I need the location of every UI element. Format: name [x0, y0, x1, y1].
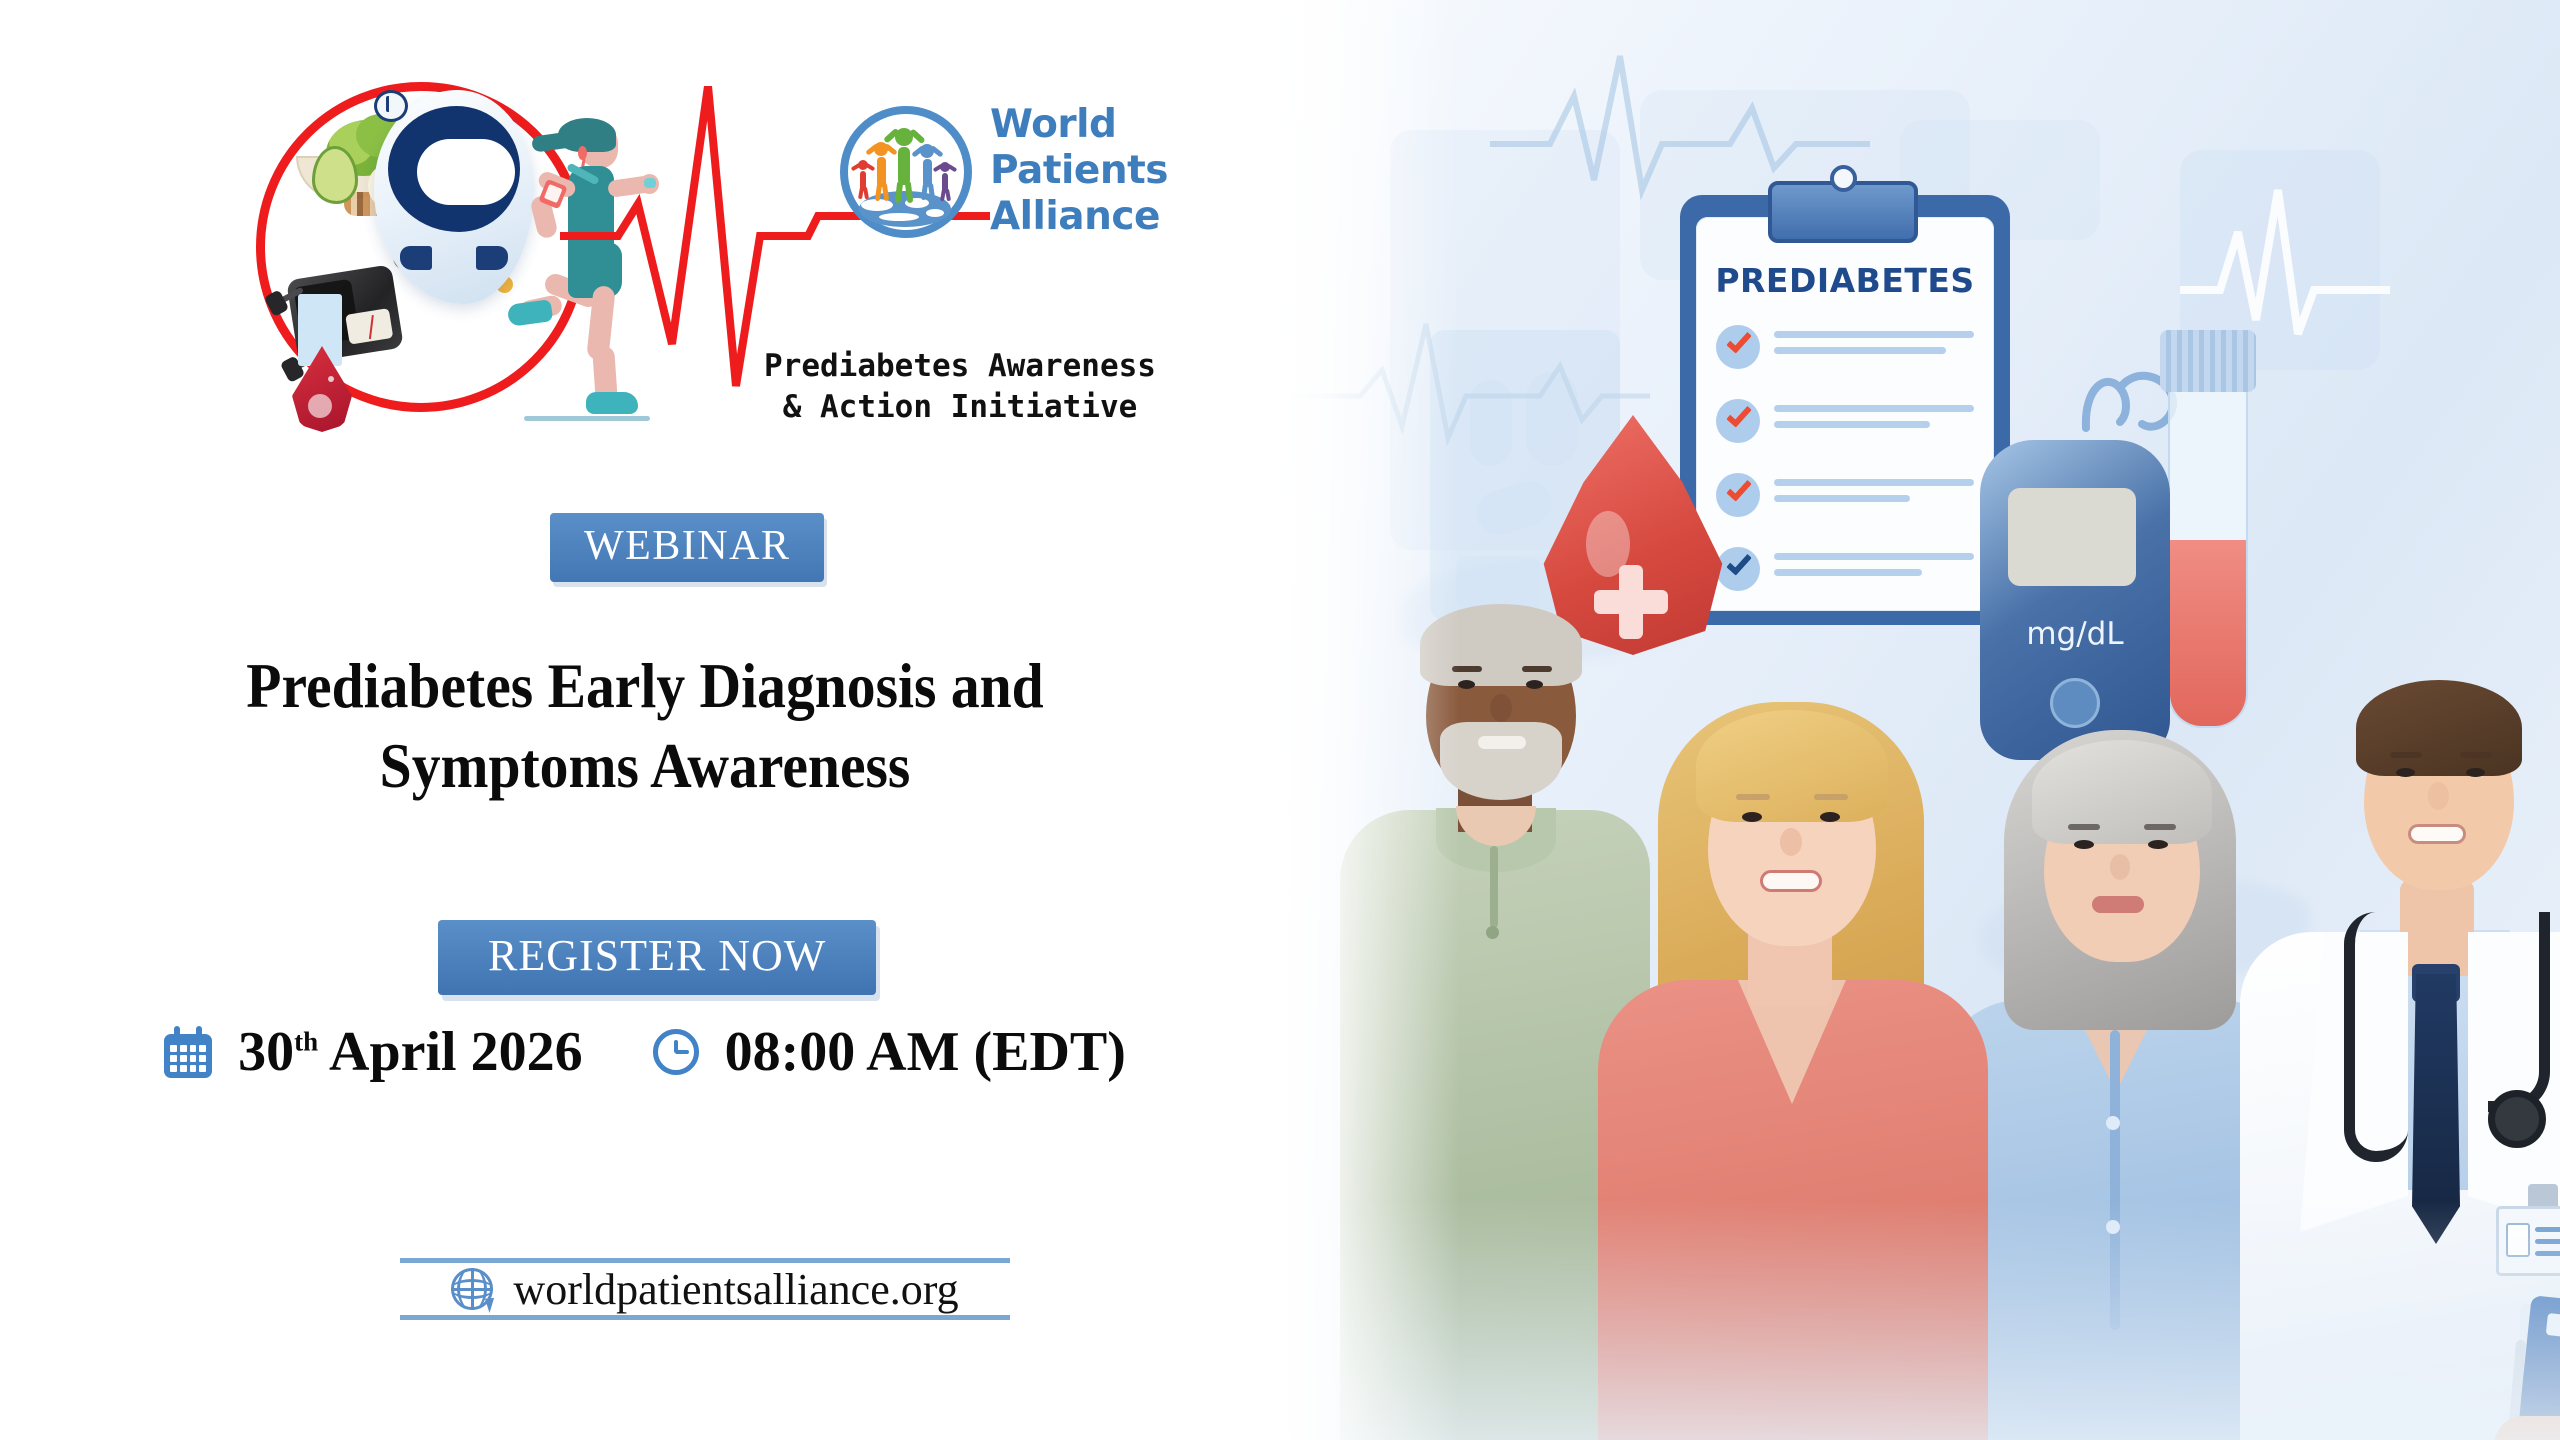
checklist-item [1716, 397, 1978, 457]
campaign-tagline: Prediabetes Awareness & Action Initiativ… [700, 346, 1220, 428]
checklist-lines [1774, 479, 1974, 511]
clipboard-clip-knob [1830, 165, 1857, 192]
title-line2: Symptoms Awareness [146, 726, 1145, 806]
blood-drop-highlight [308, 394, 332, 418]
older-woman-eyebrow [2068, 824, 2100, 830]
blouse-button [2106, 1116, 2120, 1130]
doctor-eyebrow [2390, 752, 2422, 758]
webinar-poster: World Patients Alliance Prediabetes Awar… [0, 0, 2560, 1440]
panel-bottom-fade [1280, 1200, 2560, 1440]
doctor-eyebrow [2460, 752, 2492, 758]
older-woman-eye [2074, 840, 2094, 849]
polo-button [1486, 926, 1499, 939]
older-woman-eye [2148, 840, 2168, 849]
stethoscope-bell [2488, 1090, 2546, 1148]
stethoscope-tube [2488, 912, 2550, 1112]
check-icon [1726, 401, 1752, 428]
left-content-column: World Patients Alliance Prediabetes Awar… [0, 0, 1290, 1440]
wpa-name-line1: World [990, 102, 1190, 148]
older-man-smile [1478, 736, 1526, 749]
runner-ground-line [524, 416, 650, 421]
older-man-eye [1526, 680, 1543, 689]
older-man-nose [1490, 694, 1512, 722]
website-bar[interactable]: worldpatientsalliance.org [400, 1258, 1010, 1320]
doctor-eye [2396, 768, 2415, 777]
woman-patient-smile [1760, 870, 1822, 892]
test-tube-cap [2160, 330, 2256, 392]
webinar-badge-label: WEBINAR [584, 523, 790, 569]
webinar-badge: WEBINAR [550, 513, 824, 582]
woman-patient-eye [1820, 812, 1840, 822]
checklist-item [1716, 471, 1978, 531]
wpa-name-line3: Alliance [990, 194, 1190, 240]
woman-patient-nose [1780, 828, 1802, 856]
doctor-hair [2356, 680, 2522, 776]
woman-patient-hair-top [1696, 710, 1888, 822]
polo-placket [1490, 846, 1498, 928]
date-day: 30 [238, 1021, 294, 1083]
wpa-wordmark: World Patients Alliance [990, 102, 1190, 240]
glucometer-left-button [400, 246, 432, 270]
older-man-eye [1458, 680, 1475, 689]
wpa-name-line2: Patients [990, 148, 1190, 194]
tagline-line2: & Action Initiative [700, 387, 1220, 428]
wpa-globe-icon [840, 106, 972, 238]
blood-drop-speck [328, 376, 334, 382]
checklist-lines [1774, 331, 1974, 363]
stethoscope-tube [2344, 912, 2408, 1162]
title-line1: Prediabetes Early Diagnosis and [146, 646, 1145, 726]
calendar-icon [164, 1026, 212, 1078]
check-icon [1726, 327, 1752, 354]
scale-dial [345, 308, 393, 345]
register-now-button[interactable]: REGISTER NOW [438, 920, 876, 995]
older-woman-smile [2092, 896, 2144, 913]
glucometer-screen [417, 139, 515, 205]
glucometer-power-button [374, 90, 408, 122]
checklist-item [1716, 323, 1978, 383]
event-date: 30th April 2026 [238, 1020, 583, 1084]
older-man-eyebrow [1522, 666, 1552, 672]
older-woman-eyebrow [2144, 824, 2176, 830]
event-time: 08:00 AM (EDT) [725, 1020, 1126, 1084]
panel-left-fade [1280, 0, 1460, 1440]
doctor-neck [2400, 880, 2474, 976]
tagline-line1: Prediabetes Awareness [700, 346, 1220, 387]
doctor-nose [2428, 782, 2449, 810]
glucometer-right-button [476, 246, 508, 270]
doctor-smile [2408, 824, 2466, 844]
woman-patient-eyebrow [1814, 794, 1848, 800]
woman-patient-eyebrow [1736, 794, 1770, 800]
checkbox-circle [1716, 325, 1760, 369]
hero-illustration-panel: PREDIABETES [1280, 0, 2560, 1440]
date-suffix: th [294, 1026, 318, 1056]
clock-icon [653, 1029, 699, 1075]
date-month-year: April 2026 [329, 1021, 583, 1083]
check-icon [1726, 475, 1752, 502]
woman-patient-eye [1742, 812, 1762, 822]
doctor-eye [2466, 768, 2485, 777]
page-title: Prediabetes Early Diagnosis and Symptoms… [90, 646, 1200, 806]
older-woman-hair-top [2032, 740, 2212, 844]
logo-band: World Patients Alliance Prediabetes Awar… [0, 46, 1290, 406]
register-button-label: REGISTER NOW [488, 931, 826, 980]
older-woman-nose [2110, 854, 2130, 880]
clipboard-title: PREDIABETES [1680, 261, 2010, 300]
checklist-lines [1774, 405, 1974, 437]
world-patients-alliance-logo: World Patients Alliance [840, 102, 1180, 252]
date-time-row: 30th April 2026 08:00 AM (EDT) [0, 1020, 1290, 1084]
glucometer-bezel [388, 106, 520, 232]
website-url: worldpatientsalliance.org [513, 1264, 958, 1315]
globe-cursor-icon [451, 1268, 493, 1310]
